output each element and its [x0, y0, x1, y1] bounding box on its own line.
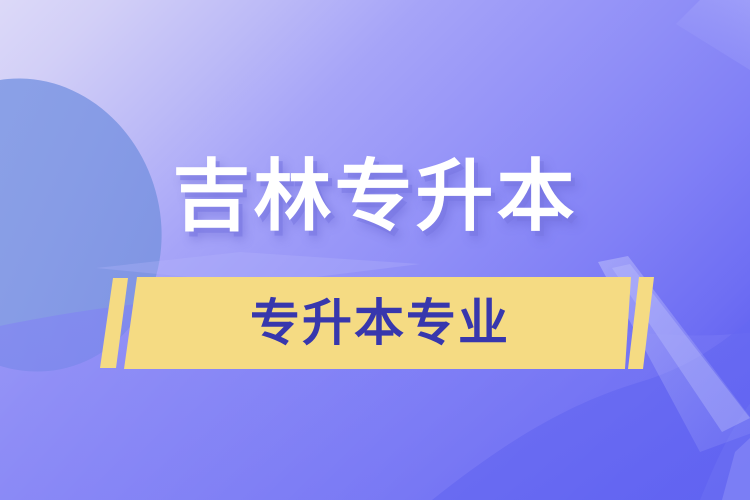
- ribbon-label: 专升本专业: [130, 278, 630, 368]
- headline: 吉林专升本: [0, 141, 750, 251]
- ribbon-label-text: 专升本专业: [250, 298, 510, 348]
- promo-banner-image: 吉林专升本 专升本专业: [0, 0, 750, 500]
- headline-text: 吉林专升本: [172, 157, 577, 235]
